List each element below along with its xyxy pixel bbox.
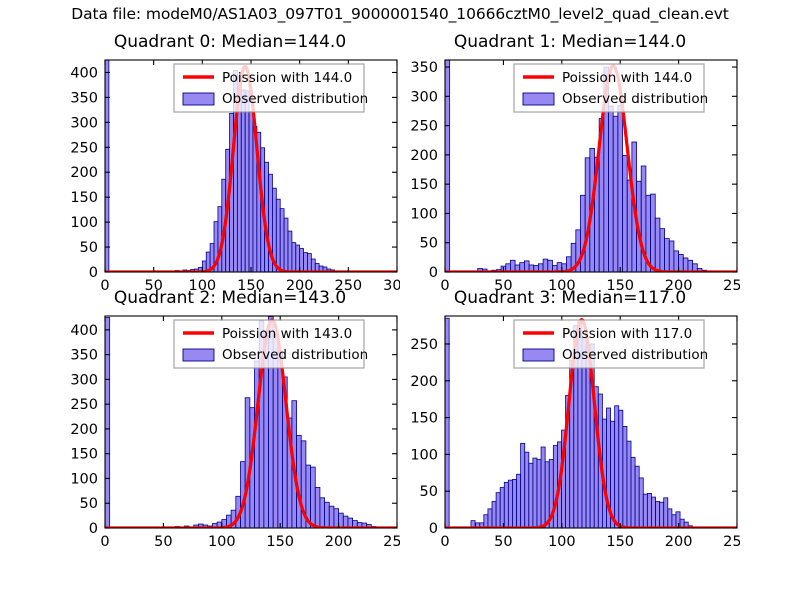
y-tick-label: 50 bbox=[80, 240, 98, 256]
histogram-bar bbox=[525, 452, 529, 528]
histogram-bar bbox=[639, 478, 643, 528]
legend-fit-label: Poission with 144.0 bbox=[562, 70, 692, 86]
histogram-bar bbox=[647, 493, 651, 528]
y-tick-label: 150 bbox=[410, 411, 438, 427]
y-tick-label: 200 bbox=[70, 422, 98, 438]
plot-area-quadrant-3: 050100150200250050100150200250Poission w… bbox=[400, 288, 740, 556]
histogram-bar bbox=[688, 260, 693, 272]
y-tick-label: 100 bbox=[410, 447, 438, 463]
histogram-bar bbox=[615, 406, 619, 528]
x-tick-label: 100 bbox=[208, 534, 236, 550]
histogram-bar bbox=[304, 253, 308, 272]
x-tick-label: 250 bbox=[383, 534, 400, 550]
x-tick-label: 0 bbox=[100, 534, 109, 550]
histogram-bar bbox=[445, 318, 449, 528]
histogram-bar bbox=[613, 116, 618, 272]
histogram-bar bbox=[651, 497, 655, 528]
legend-observed-label: Observed distribution bbox=[562, 91, 708, 107]
histogram-bar bbox=[504, 482, 508, 528]
histogram-bar bbox=[311, 467, 316, 528]
panel-quadrant-0: Quadrant 0: Median=144.0 050100150200250… bbox=[60, 32, 400, 300]
figure-suptitle: Data file: modeM0/AS1A03_097T01_90000015… bbox=[0, 5, 800, 23]
histogram-bar bbox=[656, 502, 660, 529]
histogram-bar bbox=[315, 487, 320, 528]
y-tick-label: 200 bbox=[70, 165, 98, 181]
histogram-bar bbox=[669, 241, 674, 272]
histogram-bar bbox=[586, 348, 590, 528]
legend-observed-label: Observed distribution bbox=[222, 347, 368, 363]
histogram-bar bbox=[492, 502, 496, 529]
histogram-bar bbox=[500, 488, 504, 528]
y-tick-label: 150 bbox=[410, 177, 438, 193]
histogram-bar bbox=[105, 317, 110, 528]
histogram-bar bbox=[545, 462, 549, 528]
histogram-bar bbox=[655, 218, 660, 272]
x-tick-label: 250 bbox=[723, 534, 740, 550]
histogram-bar bbox=[533, 458, 537, 528]
histogram-bar bbox=[292, 243, 296, 272]
x-tick-label: 50 bbox=[494, 534, 512, 550]
histogram-bar bbox=[543, 259, 548, 272]
x-tick-label: 100 bbox=[548, 534, 576, 550]
legend[interactable]: Poission with 144.0Observed distribution bbox=[514, 64, 708, 112]
histogram-bar bbox=[683, 258, 688, 272]
histogram-bar bbox=[660, 229, 665, 272]
y-tick-label: 0 bbox=[429, 265, 438, 281]
y-tick-label: 150 bbox=[70, 447, 98, 463]
histogram-bar bbox=[245, 398, 250, 528]
histogram-bar bbox=[445, 58, 450, 272]
y-tick-label: 0 bbox=[89, 265, 98, 281]
histogram-bar bbox=[334, 509, 339, 528]
y-tick-label: 350 bbox=[410, 60, 438, 76]
histogram-bar bbox=[672, 515, 676, 528]
histogram-bar bbox=[665, 239, 670, 272]
y-tick-label: 300 bbox=[410, 89, 438, 105]
legend-fit-label: Poission with 144.0 bbox=[222, 70, 352, 86]
legend[interactable]: Poission with 143.0Observed distribution bbox=[174, 320, 368, 368]
panel-quadrant-3: Quadrant 3: Median=117.0 050100150200250… bbox=[400, 288, 740, 556]
histogram-bar bbox=[105, 58, 109, 272]
histogram-bar bbox=[537, 460, 541, 528]
histogram-bar bbox=[668, 509, 672, 528]
plot-area-quadrant-1: 050100150200250050100150200250300350Pois… bbox=[400, 32, 740, 300]
histogram-bar bbox=[664, 498, 668, 528]
histogram-bar bbox=[307, 254, 311, 272]
y-tick-label: 200 bbox=[410, 148, 438, 164]
legend[interactable]: Poission with 144.0Observed distribution bbox=[174, 64, 368, 112]
histogram-bar bbox=[524, 261, 529, 272]
legend[interactable]: Poission with 117.0Observed distribution bbox=[514, 320, 708, 368]
histogram-bar bbox=[496, 493, 500, 528]
legend-observed-label: Observed distribution bbox=[562, 347, 708, 363]
histogram-bar bbox=[623, 426, 627, 528]
panel-quadrant-2: Quadrant 2: Median=143.0 050100150200250… bbox=[60, 288, 400, 556]
legend-observed-swatch bbox=[183, 349, 214, 361]
histogram-bar bbox=[288, 231, 292, 272]
legend-fit-label: Poission with 117.0 bbox=[562, 326, 692, 342]
histogram-bar bbox=[320, 498, 325, 528]
histogram-bar bbox=[541, 447, 545, 528]
y-tick-label: 150 bbox=[70, 190, 98, 206]
plot-area-quadrant-0: 0501001502002503000501001502002503003504… bbox=[60, 32, 400, 300]
legend-observed-swatch bbox=[523, 349, 554, 361]
y-tick-label: 50 bbox=[80, 496, 98, 512]
histogram-bar bbox=[643, 494, 647, 528]
histogram-bar bbox=[517, 474, 521, 528]
y-tick-label: 100 bbox=[410, 206, 438, 222]
y-tick-label: 300 bbox=[70, 115, 98, 131]
histogram-bar bbox=[339, 513, 344, 528]
panel-quadrant-1: Quadrant 1: Median=144.0 050100150200250… bbox=[400, 32, 740, 300]
histogram-bar bbox=[609, 106, 614, 272]
histogram-bar bbox=[280, 209, 284, 272]
histogram-bar bbox=[296, 245, 300, 272]
histogram-bar bbox=[635, 466, 639, 528]
y-tick-label: 400 bbox=[70, 323, 98, 339]
y-tick-label: 100 bbox=[70, 471, 98, 487]
histogram-bar bbox=[529, 463, 533, 528]
histogram-bar bbox=[241, 90, 245, 272]
histogram-bar bbox=[329, 506, 334, 528]
histogram-bar bbox=[512, 479, 516, 528]
histogram-bar bbox=[325, 502, 330, 528]
histogram-bar bbox=[510, 260, 515, 272]
histogram-bar bbox=[311, 259, 315, 272]
histogram-bar bbox=[623, 155, 628, 272]
y-tick-label: 0 bbox=[429, 521, 438, 537]
histogram-bar bbox=[619, 410, 623, 528]
histogram-bar bbox=[618, 106, 623, 272]
histogram-bar bbox=[521, 443, 525, 528]
y-tick-label: 250 bbox=[70, 140, 98, 156]
histogram-bar bbox=[249, 111, 253, 272]
histogram-bar bbox=[627, 441, 631, 528]
histogram-bar bbox=[343, 516, 348, 528]
x-tick-label: 200 bbox=[325, 534, 353, 550]
histogram-bar bbox=[548, 260, 553, 272]
y-tick-label: 100 bbox=[70, 215, 98, 231]
y-tick-label: 0 bbox=[89, 521, 98, 537]
x-tick-label: 50 bbox=[154, 534, 172, 550]
x-tick-label: 200 bbox=[665, 534, 693, 550]
legend-observed-swatch bbox=[183, 93, 214, 105]
y-tick-label: 350 bbox=[70, 90, 98, 106]
histogram-bar bbox=[484, 515, 488, 528]
histogram-bar bbox=[508, 480, 512, 528]
histogram-bar bbox=[660, 502, 664, 528]
histogram-bar bbox=[676, 512, 680, 528]
plot-area-quadrant-2: 050100150200250050100150200250300350400P… bbox=[60, 288, 400, 556]
histogram-bar bbox=[651, 194, 656, 272]
histogram-bar bbox=[284, 218, 288, 272]
histogram-bar bbox=[245, 91, 249, 272]
histogram-bar bbox=[553, 446, 557, 528]
legend-observed-swatch bbox=[523, 93, 554, 105]
legend-observed-label: Observed distribution bbox=[222, 91, 368, 107]
y-tick-label: 200 bbox=[410, 374, 438, 390]
x-tick-label: 150 bbox=[606, 534, 634, 550]
histogram-bar bbox=[631, 457, 635, 528]
y-tick-label: 350 bbox=[70, 348, 98, 364]
histogram-bar bbox=[276, 199, 280, 272]
y-tick-label: 250 bbox=[70, 397, 98, 413]
y-tick-label: 250 bbox=[410, 119, 438, 135]
legend-fit-label: Poission with 143.0 bbox=[222, 326, 352, 342]
histogram-bar bbox=[300, 249, 304, 272]
matplotlib-figure: Data file: modeM0/AS1A03_097T01_90000015… bbox=[0, 0, 800, 600]
histogram-bar bbox=[488, 509, 492, 528]
histogram-bar bbox=[674, 251, 679, 272]
histogram-bar bbox=[679, 254, 684, 272]
y-tick-label: 300 bbox=[70, 372, 98, 388]
y-tick-label: 50 bbox=[420, 236, 438, 252]
y-tick-label: 50 bbox=[420, 484, 438, 500]
x-tick-label: 0 bbox=[440, 534, 449, 550]
y-tick-label: 400 bbox=[70, 65, 98, 81]
x-tick-label: 150 bbox=[266, 534, 294, 550]
y-tick-label: 250 bbox=[410, 337, 438, 353]
